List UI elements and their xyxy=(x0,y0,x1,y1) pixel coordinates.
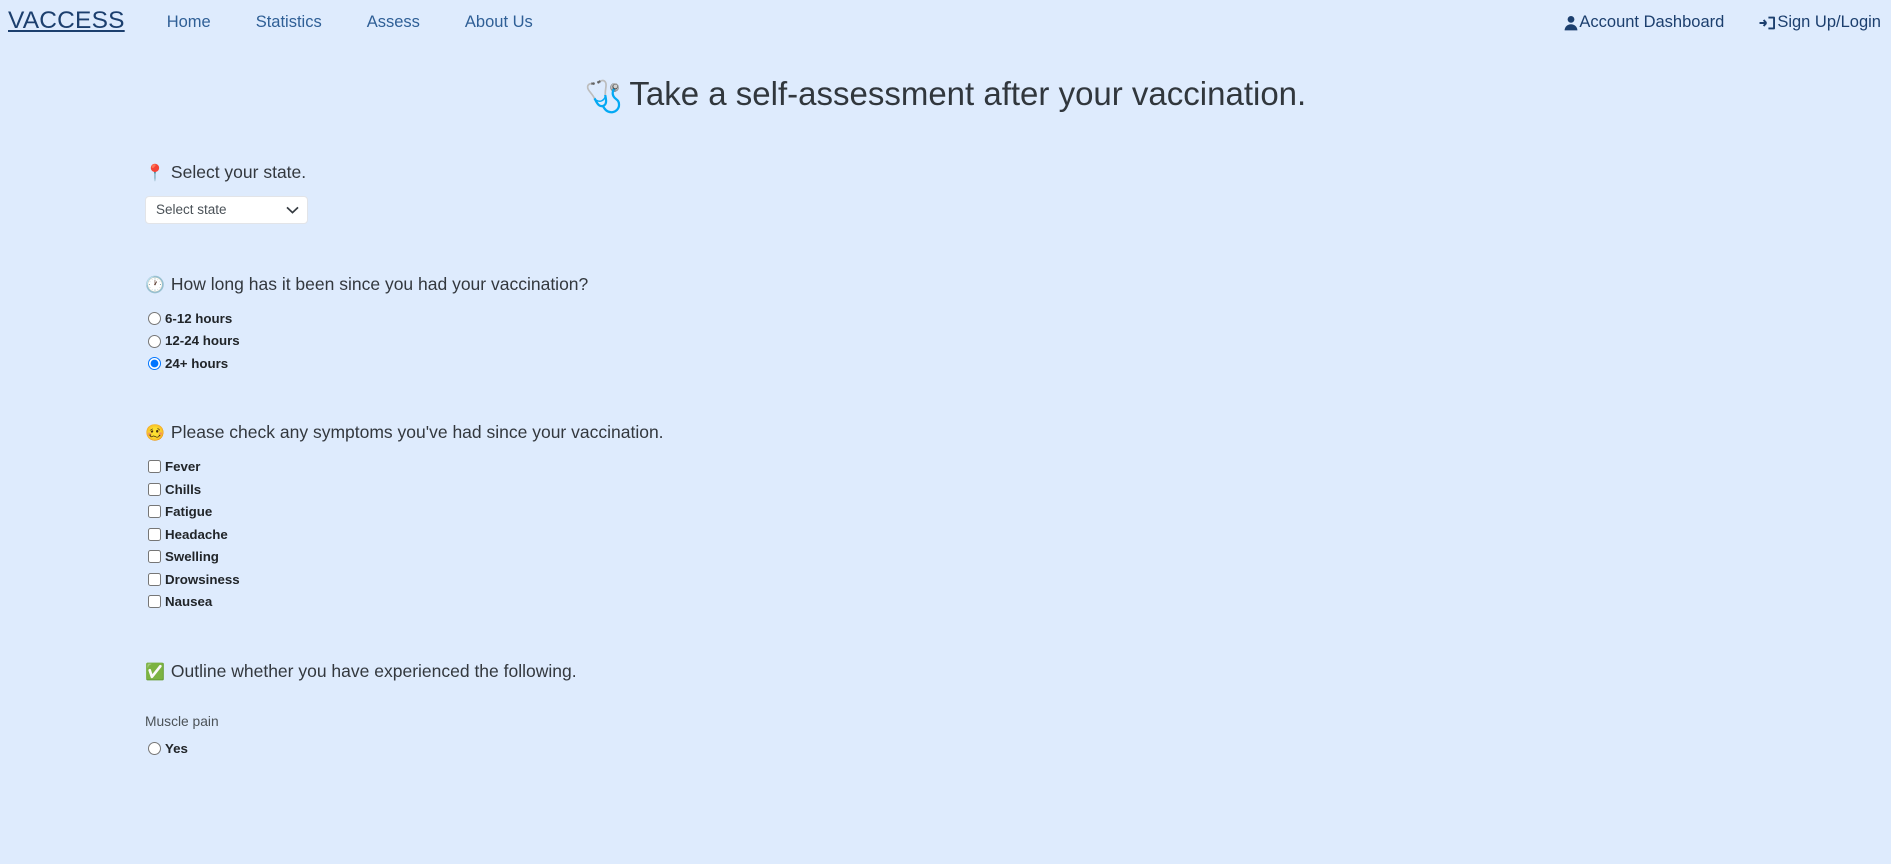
timing-section: 🕐How long has it been since you had your… xyxy=(145,273,1891,375)
timing-section-title-text: How long has it been since you had your … xyxy=(171,274,588,294)
group-label-muscle-pain: Muscle pain xyxy=(145,715,1891,729)
account-dashboard-link[interactable]: Account Dashboard xyxy=(1564,14,1724,31)
state-section-title: 📍Select your state. xyxy=(145,161,1891,185)
radio-24-plus-hours[interactable] xyxy=(148,357,161,370)
checkbox-row-nausea[interactable]: Nausea xyxy=(148,591,1891,614)
checkbox-chills[interactable] xyxy=(148,483,161,496)
checkbox-label-nausea: Nausea xyxy=(165,595,212,608)
brand-logo[interactable]: VACCESS xyxy=(8,9,125,36)
nav-link-home[interactable]: Home xyxy=(167,14,211,31)
account-dashboard-label: Account Dashboard xyxy=(1579,14,1724,31)
stethoscope-icon: 🩺 xyxy=(585,79,624,114)
clock-icon: 🕐 xyxy=(145,277,165,294)
radio-label-24-plus-hours: 24+ hours xyxy=(165,357,228,370)
state-select[interactable]: Select state xyxy=(145,196,308,224)
nav-link-assess[interactable]: Assess xyxy=(367,14,420,31)
radio-row-muscle-pain-yes[interactable]: Yes xyxy=(148,738,1891,761)
checkbox-row-fatigue[interactable]: Fatigue xyxy=(148,501,1891,524)
checkbox-label-swelling: Swelling xyxy=(165,550,219,563)
checkbox-label-fever: Fever xyxy=(165,460,200,473)
outline-section-title: ✅Outline whether you have experienced th… xyxy=(145,660,1891,684)
sign-up-login-label: Sign Up/Login xyxy=(1777,14,1881,31)
checkbox-nausea[interactable] xyxy=(148,595,161,608)
checkbox-label-drowsiness: Drowsiness xyxy=(165,573,240,586)
state-section: 📍Select your state. Select state xyxy=(145,161,1891,224)
radio-label-12-24-hours: 12-24 hours xyxy=(165,334,240,347)
checkbox-fatigue[interactable] xyxy=(148,505,161,518)
radio-label-6-12-hours: 6-12 hours xyxy=(165,312,232,325)
checkbox-fever[interactable] xyxy=(148,460,161,473)
navbar: VACCESS Home Statistics Assess About Us … xyxy=(0,0,1891,45)
nav-link-statistics[interactable]: Statistics xyxy=(256,14,322,31)
outline-section-title-text: Outline whether you have experienced the… xyxy=(171,661,577,681)
symptoms-section-title-text: Please check any symptoms you've had sin… xyxy=(171,422,664,442)
checkbox-row-fever[interactable]: Fever xyxy=(148,456,1891,479)
checkbox-row-drowsiness[interactable]: Drowsiness xyxy=(148,568,1891,591)
radio-6-12-hours[interactable] xyxy=(148,312,161,325)
checkbox-headache[interactable] xyxy=(148,528,161,541)
radio-row-12-24-hours[interactable]: 12-24 hours xyxy=(148,330,1891,353)
radio-label-muscle-pain-yes: Yes xyxy=(165,742,188,755)
spacer xyxy=(145,224,1891,273)
symptoms-section-title: 🥴Please check any symptoms you've had si… xyxy=(145,421,1891,445)
checkbox-row-chills[interactable]: Chills xyxy=(148,478,1891,501)
radio-12-24-hours[interactable] xyxy=(148,335,161,348)
woozy-face-icon: 🥴 xyxy=(145,425,165,442)
map-pin-icon: 📍 xyxy=(145,165,165,182)
radio-row-24-plus-hours[interactable]: 24+ hours xyxy=(148,352,1891,375)
check-mark-button-icon: ✅ xyxy=(145,664,165,681)
nav-links: Home Statistics Assess About Us xyxy=(167,14,578,31)
assessment-form: 📍Select your state. Select state 🕐How lo… xyxy=(0,117,1891,760)
checkbox-label-chills: Chills xyxy=(165,483,201,496)
outline-section: ✅Outline whether you have experienced th… xyxy=(145,660,1891,760)
nav-link-about-us[interactable]: About Us xyxy=(465,14,533,31)
state-section-title-text: Select your state. xyxy=(171,162,306,182)
checkbox-label-fatigue: Fatigue xyxy=(165,505,212,518)
spacer xyxy=(145,695,1891,715)
symptoms-section: 🥴Please check any symptoms you've had si… xyxy=(145,421,1891,613)
radio-muscle-pain-yes[interactable] xyxy=(148,742,161,755)
user-icon xyxy=(1564,15,1578,31)
spacer xyxy=(145,613,1891,660)
checkbox-row-swelling[interactable]: Swelling xyxy=(148,546,1891,569)
checkbox-drowsiness[interactable] xyxy=(148,573,161,586)
sign-in-icon xyxy=(1759,15,1776,31)
page-title-text: Take a self-assessment after your vaccin… xyxy=(629,75,1306,112)
state-select-wrapper: Select state xyxy=(145,196,308,224)
page-title: 🩺Take a self-assessment after your vacci… xyxy=(0,45,1891,117)
spacer xyxy=(145,375,1891,421)
checkbox-swelling[interactable] xyxy=(148,550,161,563)
checkbox-row-headache[interactable]: Headache xyxy=(148,523,1891,546)
radio-row-6-12-hours[interactable]: 6-12 hours xyxy=(148,307,1891,330)
timing-section-title: 🕐How long has it been since you had your… xyxy=(145,273,1891,297)
checkbox-label-headache: Headache xyxy=(165,528,228,541)
navbar-right: Account Dashboard Sign Up/Login xyxy=(1529,0,1881,45)
sign-up-login-link[interactable]: Sign Up/Login xyxy=(1759,14,1881,31)
